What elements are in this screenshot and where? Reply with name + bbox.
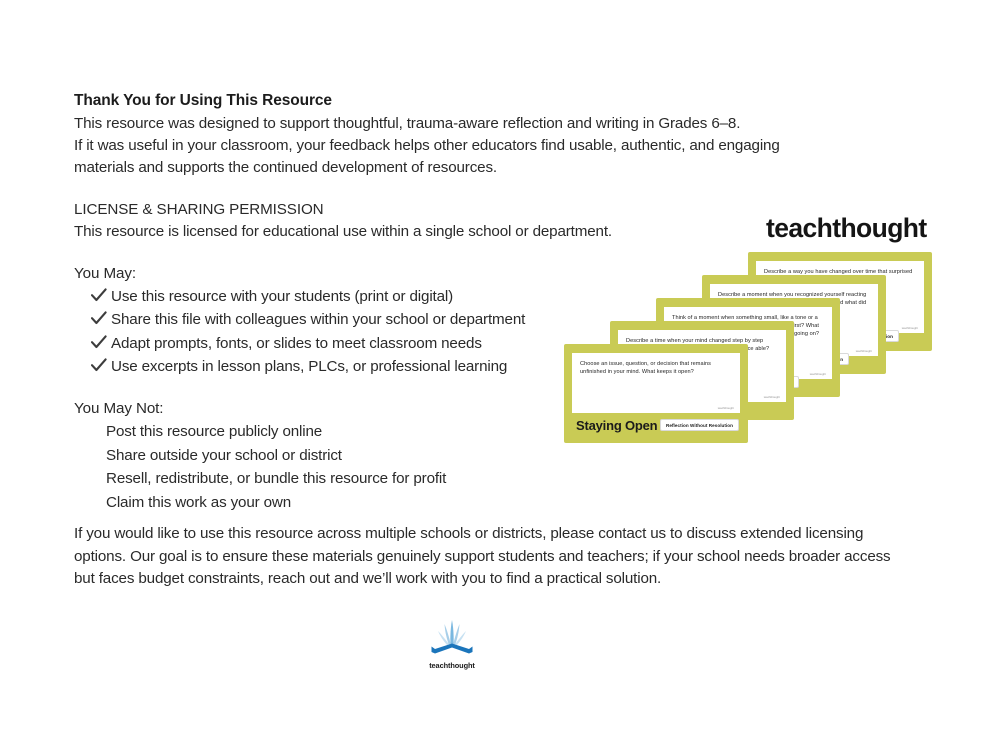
footer-logo-label: teachthought (406, 661, 498, 670)
list-item-label: Claim this work as your own (106, 491, 291, 515)
check-icon (91, 358, 111, 372)
teachthought-wordmark: teachthought (766, 213, 927, 244)
closing-paragraph: If you would like to use this resource a… (74, 523, 902, 591)
list-item-label: Use excerpts in lesson plans, PLCs, or p… (111, 355, 507, 379)
list-item-label: Share outside your school or district (106, 444, 342, 468)
feather-plume-ribbon-logo-icon (426, 616, 478, 660)
card-title: Staying Open (576, 418, 657, 433)
check-icon (91, 288, 111, 302)
preview-card-front: Choose an issue, question, or decision t… (564, 344, 748, 443)
intro-line-3: materials and supports the continued dev… (74, 157, 934, 179)
card-brand-mark: teachthought (718, 407, 734, 410)
card-brand-mark: teachthought (810, 373, 826, 376)
list-item-label: Adapt prompts, fonts, or slides to meet … (111, 332, 482, 356)
page-canvas: Thank You for Using This Resource This r… (0, 0, 1000, 750)
card-inner: Choose an issue, question, or decision t… (572, 353, 740, 413)
check-icon (91, 311, 111, 325)
slide-card-stack-preview: Describe a way you have changed over tim… (562, 252, 932, 448)
card-brand-mark: teachthought (856, 350, 872, 353)
list-item-label: Use this resource with your students (pr… (111, 285, 453, 309)
check-icon (91, 335, 111, 349)
card-brand-mark: teachthought (902, 327, 918, 330)
card-prompt: Choose an issue, question, or decision t… (572, 353, 740, 376)
list-item: Resell, redistribute, or bundle this res… (74, 467, 934, 491)
list-item-label: Resell, redistribute, or bundle this res… (106, 467, 446, 491)
intro-line-2: If it was useful in your classroom, your… (74, 135, 934, 157)
intro-line-1: This resource was designed to support th… (74, 113, 934, 135)
list-item-label: Post this resource publicly online (106, 420, 322, 444)
card-badge: Reflection Without Resolution (660, 419, 739, 431)
list-item-label: Share this file with colleagues within y… (111, 308, 525, 332)
spacer (74, 180, 934, 199)
list-item: Claim this work as your own (74, 491, 934, 515)
page-title: Thank You for Using This Resource (74, 90, 934, 113)
card-brand-mark: teachthought (764, 396, 780, 399)
footer-logo: teachthought (406, 616, 498, 674)
